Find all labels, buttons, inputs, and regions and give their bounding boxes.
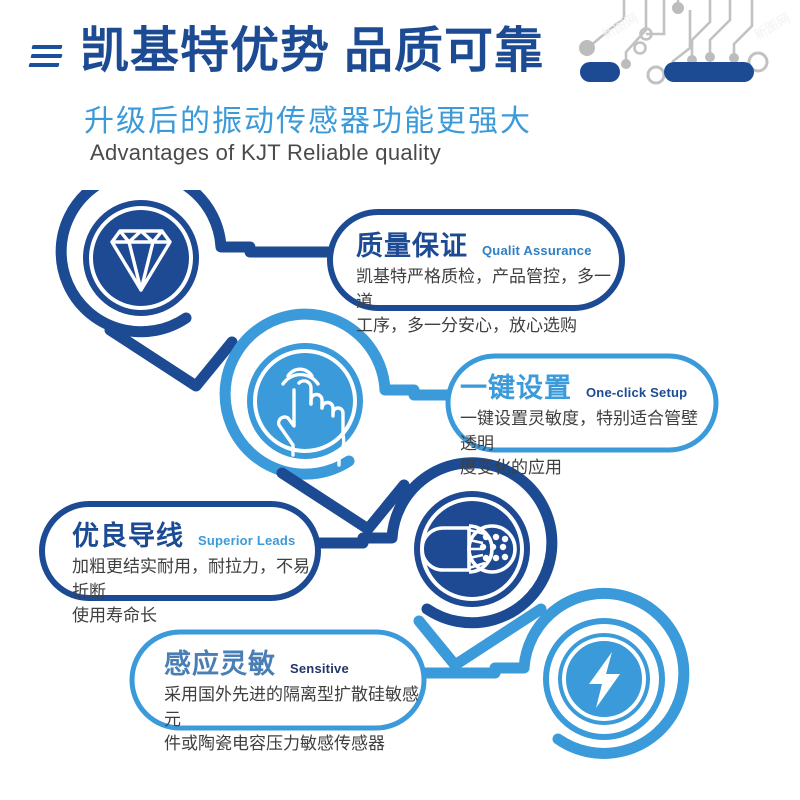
hamburger-bar bbox=[31, 54, 63, 58]
card-body: 加粗更结实耐用，耐拉力，不易折断 使用寿命长 bbox=[72, 555, 322, 629]
icon-disc-1 bbox=[83, 200, 199, 316]
feature-card-one-click-setup[interactable]: 一键设置 One-click Setup 一键设置灵敏度，特别适合管壁透明 度变… bbox=[460, 366, 710, 481]
hamburger-bar bbox=[32, 45, 63, 49]
icon-disc-2 bbox=[247, 343, 363, 459]
card-heading-row: 感应灵敏 Sensitive bbox=[164, 642, 422, 681]
page-root: 凯基特优势品质可靠 升级后的振动传感器功能更强大 Advantages of K… bbox=[0, 0, 800, 800]
card-title-en: Superior Leads bbox=[198, 533, 295, 548]
page-title-part1: 凯基特优势 bbox=[80, 24, 330, 78]
card-heading-row: 质量保证 Qualit Assurance bbox=[356, 224, 616, 263]
card-title-en: One-click Setup bbox=[586, 385, 687, 400]
card-title: 一键设置 bbox=[460, 366, 572, 405]
card-heading-row: 一键设置 One-click Setup bbox=[460, 366, 710, 405]
card-title: 感应灵敏 bbox=[164, 642, 276, 681]
page-subtitle: 升级后的振动传感器功能更强大 bbox=[84, 96, 532, 140]
card-title-en: Qualit Assurance bbox=[482, 243, 592, 258]
feature-card-quality-assurance[interactable]: 质量保证 Qualit Assurance 凯基特严格质检，产品管控，多一道 工… bbox=[356, 224, 616, 339]
card-title: 优良导线 bbox=[72, 514, 184, 553]
page-tagline-en: Advantages of KJT Reliable quality bbox=[90, 140, 441, 166]
feature-card-superior-leads[interactable]: 优良导线 Superior Leads 加粗更结实耐用，耐拉力，不易折断 使用寿… bbox=[72, 514, 322, 629]
card-title-en: Sensitive bbox=[290, 661, 349, 676]
card-body: 凯基特严格质检，产品管控，多一道 工序，多一分安心，放心选购 bbox=[356, 265, 616, 339]
page-title-part2: 品质可靠 bbox=[344, 24, 544, 78]
page-title: 凯基特优势品质可靠 bbox=[80, 24, 544, 79]
hamburger-icon[interactable] bbox=[29, 45, 63, 73]
features-flow: 质量保证 Qualit Assurance 凯基特严格质检，产品管控，多一道 工… bbox=[0, 190, 800, 800]
hamburger-bar bbox=[29, 63, 60, 67]
chevron-connector-1 bbox=[110, 330, 232, 386]
card-body: 一键设置灵敏度，特别适合管壁透明 度变化的应用 bbox=[460, 407, 710, 481]
feature-card-sensitive[interactable]: 感应灵敏 Sensitive 采用国外先进的隔离型扩散硅敏感元 件或陶瓷电容压力… bbox=[164, 642, 422, 757]
card-heading-row: 优良导线 Superior Leads bbox=[72, 514, 322, 553]
card-body: 采用国外先进的隔离型扩散硅敏感元 件或陶瓷电容压力敏感传感器 bbox=[164, 683, 422, 757]
page-header: 凯基特优势品质可靠 升级后的振动传感器功能更强大 Advantages of K… bbox=[0, 0, 800, 190]
card-title: 质量保证 bbox=[356, 224, 468, 263]
circuit-decoration-icon bbox=[560, 0, 800, 100]
